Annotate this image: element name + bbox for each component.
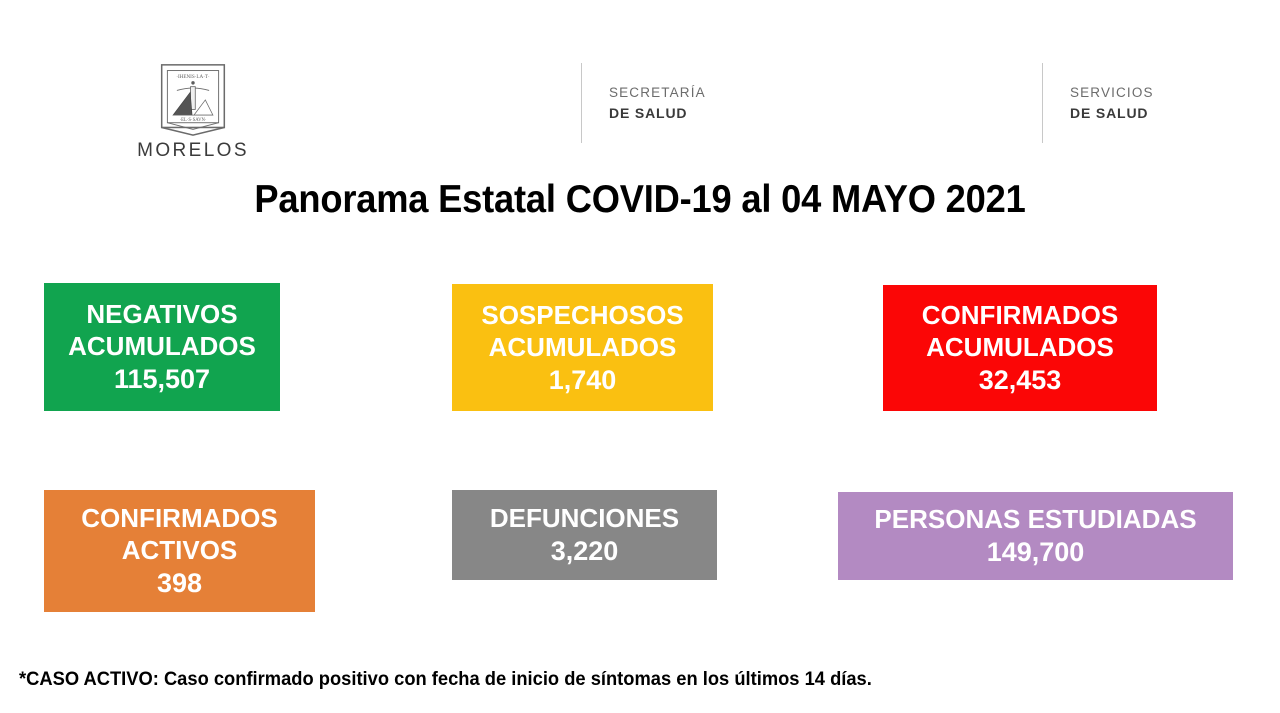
covid-dashboard-page: ·IHENIS·LA·T· ·EL·S·SAVN· MORELOS SECRET… xyxy=(0,0,1280,713)
footnote-caso-activo: *CASO ACTIVO: Caso confirmado positivo c… xyxy=(19,668,872,691)
servicios-line2: DE SALUD xyxy=(1070,103,1154,123)
stat-card-defunciones: DEFUNCIONES 3,220 xyxy=(452,490,717,580)
header-logo-bar: ·IHENIS·LA·T· ·EL·S·SAVN· MORELOS SECRET… xyxy=(0,0,1280,170)
stat-value: 1,740 xyxy=(549,363,617,397)
stat-label-line1: DEFUNCIONES xyxy=(490,502,679,534)
stat-card-sospechosos-acumulados: SOSPECHOSOS ACUMULADOS 1,740 xyxy=(452,284,713,411)
stat-label-line1: CONFIRMADOS xyxy=(922,299,1118,331)
stat-value: 149,700 xyxy=(987,535,1085,569)
svg-text:·EL·S·SAVN·: ·EL·S·SAVN· xyxy=(179,118,206,123)
stat-label-line2: ACUMULADOS xyxy=(489,331,677,363)
stat-label-line2: ACTIVOS xyxy=(122,534,238,566)
stat-label-line2: ACUMULADOS xyxy=(68,330,256,362)
stat-value: 32,453 xyxy=(979,363,1062,397)
stat-label-line1: PERSONAS ESTUDIADAS xyxy=(874,503,1196,535)
stat-card-personas-estudiadas: PERSONAS ESTUDIADAS 149,700 xyxy=(838,492,1233,580)
servicios-de-salud-logo: SERVICIOS DE SALUD xyxy=(1042,62,1154,144)
servicios-line1: SERVICIOS xyxy=(1070,83,1154,103)
stat-card-negativos-acumulados: NEGATIVOS ACUMULADOS 115,507 xyxy=(44,283,280,411)
morelos-coat-of-arms-icon: ·IHENIS·LA·T· ·EL·S·SAVN· xyxy=(156,62,230,136)
secretaria-line1: SECRETARÍA xyxy=(609,83,706,103)
secretaria-line2: DE SALUD xyxy=(609,103,706,123)
stat-card-confirmados-activos: CONFIRMADOS ACTIVOS 398 xyxy=(44,490,315,612)
stat-label-line1: SOSPECHOSOS xyxy=(481,299,683,331)
morelos-wordmark: MORELOS xyxy=(137,140,249,162)
logo-divider-rule xyxy=(581,63,582,143)
stat-label-line1: NEGATIVOS xyxy=(86,298,237,330)
stat-label-line1: CONFIRMADOS xyxy=(81,502,277,534)
svg-text:·IHENIS·LA·T·: ·IHENIS·LA·T· xyxy=(176,74,210,80)
morelos-government-logo: ·IHENIS·LA·T· ·EL·S·SAVN· MORELOS xyxy=(143,62,243,162)
stat-value: 398 xyxy=(157,566,202,600)
stat-card-confirmados-acumulados: CONFIRMADOS ACUMULADOS 32,453 xyxy=(883,285,1157,411)
stat-label-line2: ACUMULADOS xyxy=(926,331,1114,363)
secretaria-de-salud-logo: SECRETARÍA DE SALUD xyxy=(581,62,706,144)
logo-divider-rule xyxy=(1042,63,1043,143)
page-title: Panorama Estatal COVID-19 al 04 MAYO 202… xyxy=(45,178,1235,222)
stat-value: 115,507 xyxy=(114,362,210,396)
stat-value: 3,220 xyxy=(551,534,619,568)
